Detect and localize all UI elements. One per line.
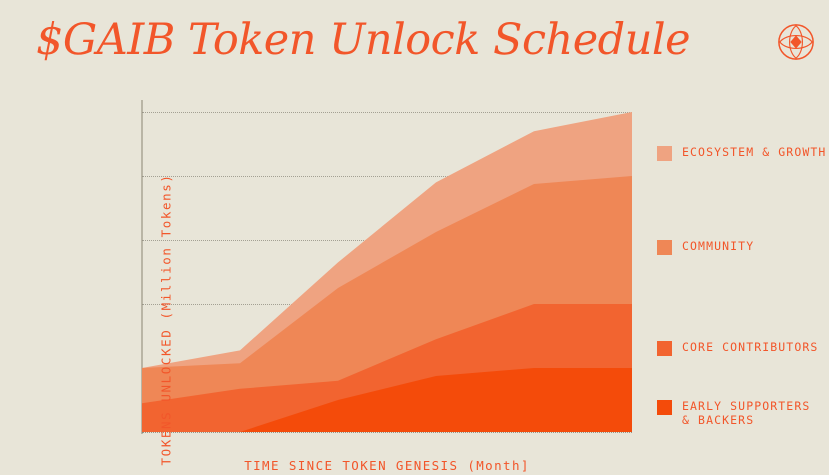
gaib-diamond-logo-icon — [777, 23, 815, 61]
legend-swatch-icon — [657, 146, 672, 161]
page-title: $GAIB Token Unlock Schedule — [36, 15, 690, 65]
legend-item-ecosystem-growth[interactable]: ECOSYSTEM & GROWTH — [657, 145, 826, 161]
legend-label: EARLY SUPPORTERS & BACKERS — [682, 399, 810, 427]
area-series-group — [142, 112, 632, 432]
legend-item-community[interactable]: COMMUNITY — [657, 239, 754, 255]
legend-swatch-icon — [657, 240, 672, 255]
legend-swatch-icon — [657, 400, 672, 415]
gridline-y-0 — [142, 432, 632, 433]
stacked-area-chart: 02004006008001000 01224364860 TOKENS UNL… — [142, 112, 632, 432]
legend-swatch-icon — [657, 341, 672, 356]
y-axis-label: TOKENS UNLOCKED (Million Tokens) — [159, 110, 174, 475]
chart-legend: ECOSYSTEM & GROWTHCOMMUNITYCORE CONTRIBU… — [657, 112, 827, 432]
legend-label: ECOSYSTEM & GROWTH — [682, 145, 826, 159]
legend-label: CORE CONTRIBUTORS — [682, 340, 818, 354]
x-axis-label: TIME SINCE TOKEN GENESIS (Month] — [142, 458, 632, 473]
legend-item-early-supporters-backers[interactable]: EARLY SUPPORTERS & BACKERS — [657, 399, 810, 427]
legend-label: COMMUNITY — [682, 239, 754, 253]
legend-item-core-contributors[interactable]: CORE CONTRIBUTORS — [657, 340, 818, 356]
chart-page: $GAIB Token Unlock Schedule 020040060080… — [0, 0, 829, 475]
